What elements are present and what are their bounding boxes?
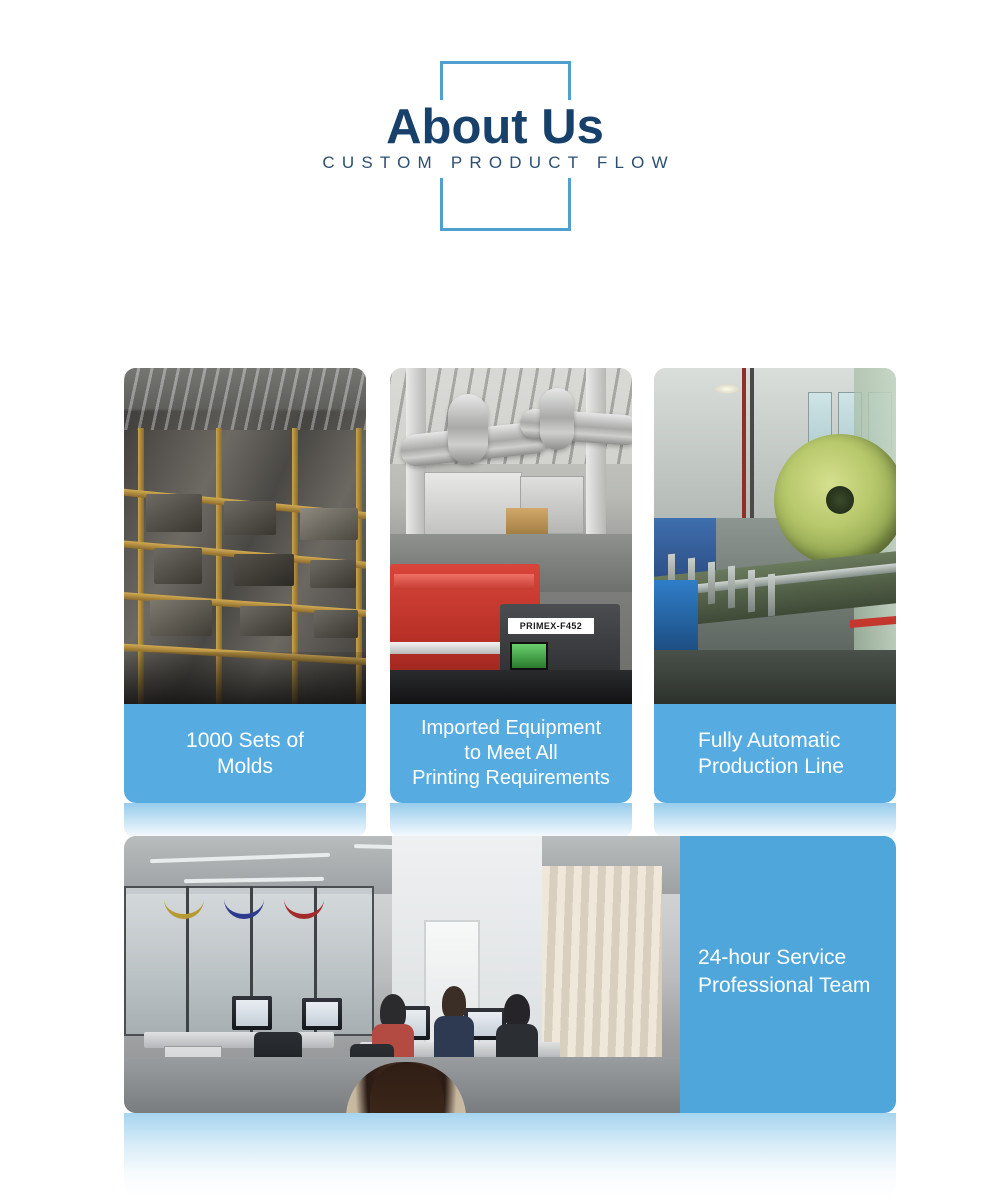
feature-card-service-team[interactable]: 24-hour Service Professional Team xyxy=(124,836,896,1113)
caption-reflection xyxy=(654,803,896,837)
office-workspace-photo xyxy=(124,836,680,1113)
feature-card-imported-equipment[interactable]: PRIMEX-F452 Imported Equipment to Meet A… xyxy=(390,368,632,803)
feature-card-caption: 1000 Sets of Molds xyxy=(124,704,366,803)
page-title: About Us xyxy=(0,98,990,156)
feature-card-production-line[interactable]: Fully Automatic Production Line xyxy=(654,368,896,803)
feature-card-caption: Fully Automatic Production Line xyxy=(654,704,896,803)
service-team-panel: 24-hour Service Professional Team xyxy=(680,836,896,1113)
feature-card-caption: Imported Equipment to Meet All Printing … xyxy=(390,704,632,803)
about-us-gallery: 1000 Sets of Molds PRIMEX-F452 xyxy=(124,368,896,1113)
caption-reflection xyxy=(124,803,366,837)
machine-model-label: PRIMEX-F452 xyxy=(508,618,594,634)
page-header: About Us CUSTOM PRODUCT FLOW xyxy=(0,0,990,300)
caption-label: Fully Automatic Production Line xyxy=(694,728,848,780)
service-team-label: 24-hour Service Professional Team xyxy=(698,944,896,1000)
caption-label: 1000 Sets of Molds xyxy=(182,728,308,780)
caption-reflection xyxy=(390,803,632,837)
page-subtitle: CUSTOM PRODUCT FLOW xyxy=(0,152,990,174)
gallery-reflection xyxy=(124,1113,896,1198)
feature-card-molds[interactable]: 1000 Sets of Molds xyxy=(124,368,366,803)
caption-label: Imported Equipment to Meet All Printing … xyxy=(408,716,614,791)
warehouse-mold-racks-photo xyxy=(124,368,366,704)
automatic-production-line-photo xyxy=(654,368,896,704)
printing-factory-press-photo: PRIMEX-F452 xyxy=(390,368,632,704)
